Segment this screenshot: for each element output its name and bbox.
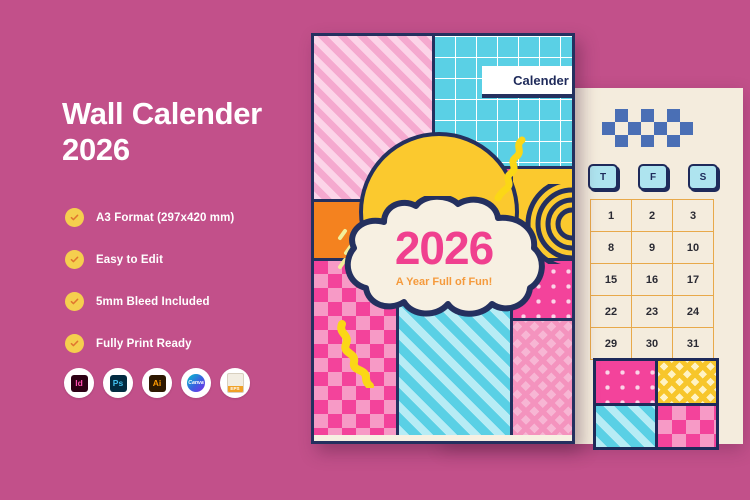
list-item: 5mm Bleed Included [65,292,335,311]
photoshop-badge-label: Ps [110,375,127,392]
date-cell: 3 [673,200,714,232]
table-row: 8 9 10 [591,232,714,264]
table-row: 1 2 3 [591,200,714,232]
indesign-badge-label: Id [71,375,88,392]
page-title: Wall Calender 2026 [62,96,322,169]
table-row: 29 30 31 [591,328,714,360]
block-pink-chevron [512,320,572,435]
date-cell: 16 [632,264,673,296]
weekday-chip: T [588,164,618,190]
date-cell: 1 [591,200,632,232]
cloud-shape [340,196,548,318]
eps-file-icon: EPS [220,368,250,398]
calendar-cover-poster: Calender 2026 A Year Full of Fun! [311,33,575,444]
swatch-pink-checker [658,406,717,448]
list-item: A3 Format (297x420 mm) [65,208,335,227]
title-line-1: Wall Calender [62,96,262,131]
weekday-header-row: T F S [588,164,718,190]
weekday-chip: F [638,164,668,190]
feature-list: A3 Format (297x420 mm) Easy to Edit 5mm … [65,208,335,376]
blue-checker-pattern [602,109,696,147]
check-circle-icon [65,250,84,269]
date-cell: 2 [632,200,673,232]
canva-icon: Canva [181,368,211,398]
date-cell: 30 [632,328,673,360]
date-cell: 29 [591,328,632,360]
illustrator-icon: Ai [142,368,172,398]
illustrator-badge-label: Ai [149,375,166,392]
check-circle-icon [65,334,84,353]
list-item: Easy to Edit [65,250,335,269]
photoshop-icon: Ps [103,368,133,398]
squiggle-icon-bottom [336,316,392,388]
feature-label: Fully Print Ready [96,338,192,350]
squiggle-icon-top [490,136,530,202]
date-cell: 15 [591,264,632,296]
table-row: 22 23 24 [591,296,714,328]
check-circle-icon [65,208,84,227]
table-row: 15 16 17 [591,264,714,296]
swatch-cyan-stripes [596,406,655,448]
swatch-yellow-chevron [658,361,717,403]
calendar-date-grid: 1 2 3 8 9 10 15 16 17 22 23 24 29 30 [590,199,714,360]
feature-label: A3 Format (297x420 mm) [96,212,234,224]
divider [512,318,572,321]
date-cell: 17 [673,264,714,296]
feature-label: Easy to Edit [96,254,163,266]
pattern-swatch-block [593,358,719,450]
title-line-2: 2026 [62,132,322,168]
mockup-canvas: Wall Calender 2026 A3 Format (297x420 mm… [0,0,750,500]
weekday-chip: S [688,164,718,190]
left-info-panel: Wall Calender 2026 A3 Format (297x420 mm… [62,96,322,169]
eps-badge-label: EPS [228,386,243,392]
compatible-apps: Id Ps Ai Canva EPS [64,368,250,398]
date-cell: 24 [673,296,714,328]
check-circle-icon [65,292,84,311]
date-cell: 22 [591,296,632,328]
date-cell: 9 [632,232,673,264]
canva-badge-label: Canva [187,374,205,392]
date-cell: 10 [673,232,714,264]
date-cell: 31 [673,328,714,360]
date-cell: 8 [591,232,632,264]
indesign-icon: Id [64,368,94,398]
list-item: Fully Print Ready [65,334,335,353]
swatch-pink-dots [596,361,655,403]
feature-label: 5mm Bleed Included [96,296,210,308]
calender-tab-label: Calender [482,66,575,94]
date-cell: 23 [632,296,673,328]
